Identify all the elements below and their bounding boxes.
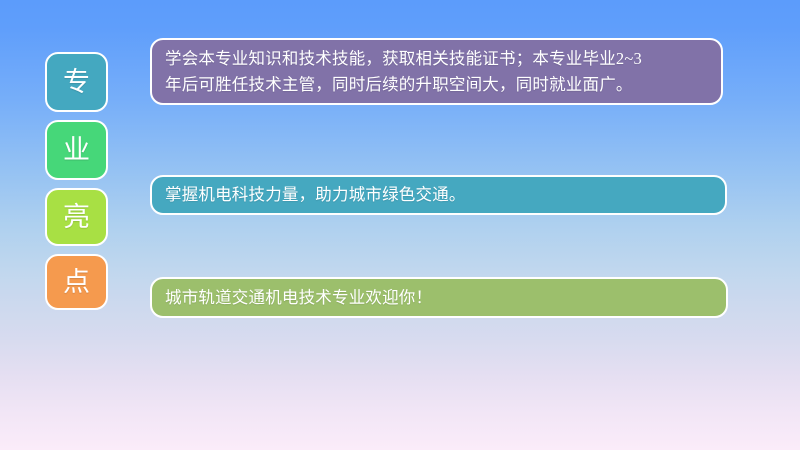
side-label-tile-2: 业 (45, 120, 108, 180)
career-outcome-line-2: 年后可胜任技术主管，同时后续的升职空间大，同时就业面广。 (165, 72, 707, 98)
career-outcome-banner: 学会本专业知识和技术技能，获取相关技能证书；本专业毕业2~3 年后可胜任技术主管… (150, 38, 723, 105)
side-label-char-2: 业 (63, 137, 90, 164)
slogan-banner: 掌握机电科技力量，助力城市绿色交通。 (150, 175, 727, 215)
side-label-char-1: 专 (63, 69, 90, 96)
slide-canvas: 专 业 亮 点 学会本专业知识和技术技能，获取相关技能证书；本专业毕业2~3 年… (0, 0, 800, 450)
slogan-text: 掌握机电科技力量，助力城市绿色交通。 (165, 182, 466, 208)
career-outcome-line-1: 学会本专业知识和技术技能，获取相关技能证书；本专业毕业2~3 (165, 46, 707, 72)
side-label-tile-1: 专 (45, 52, 108, 112)
side-label-char-4: 点 (63, 269, 90, 296)
side-label-char-3: 亮 (63, 204, 90, 231)
side-label-tile-4: 点 (45, 254, 108, 310)
welcome-banner: 城市轨道交通机电技术专业欢迎你！ (150, 277, 728, 318)
welcome-text: 城市轨道交通机电技术专业欢迎你！ (165, 285, 432, 311)
side-label-tile-3: 亮 (45, 188, 108, 246)
